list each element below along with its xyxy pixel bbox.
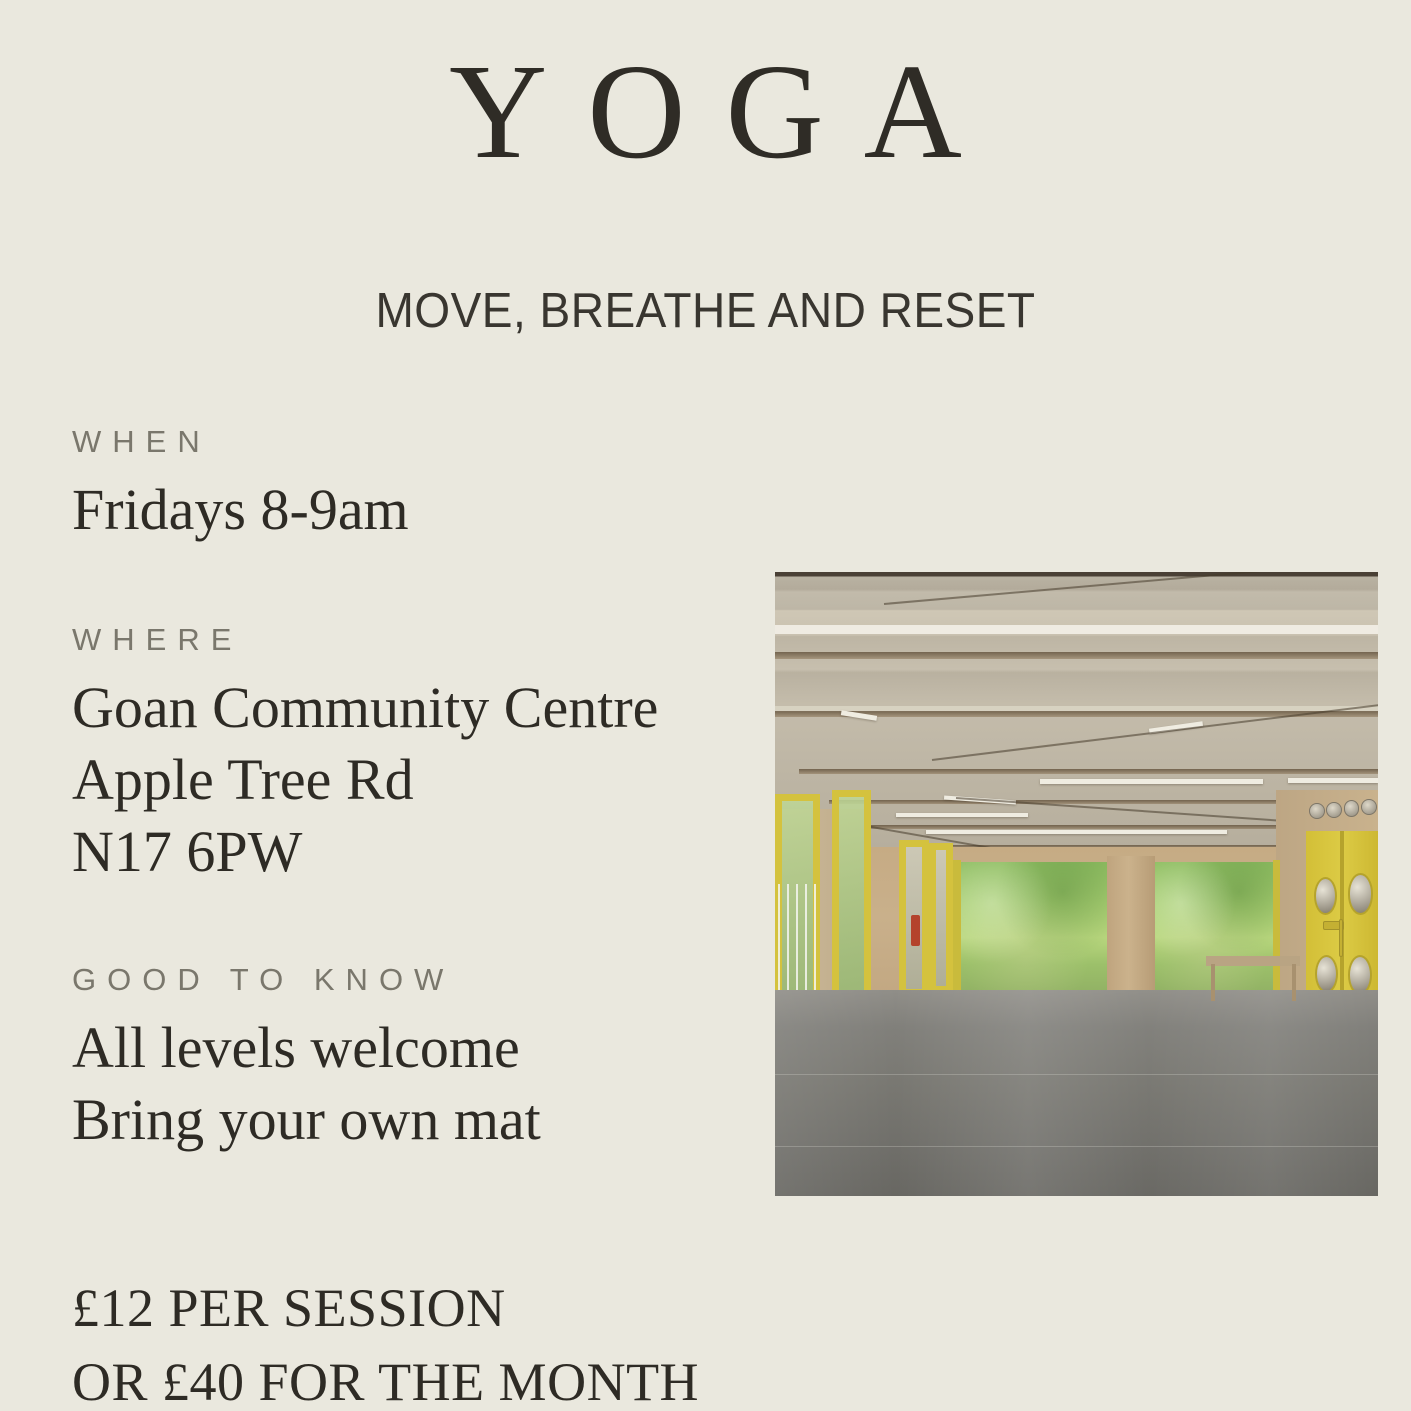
bifold-door-panel [832,790,871,1002]
light-fixture [896,813,1029,817]
where-line-2: Apple Tree Rd [72,744,658,816]
section-good-to-know: GOOD TO KNOW All levels welcome Bring yo… [72,962,541,1156]
window-mullion [1273,860,1280,1000]
section-where: WHERE Goan Community Centre Apple Tree R… [72,622,658,888]
ceiling-beam [799,769,1378,774]
section-label-good-to-know: GOOD TO KNOW [72,962,541,998]
floor-seam [775,1074,1378,1075]
section-body-good-to-know: All levels welcome Bring your own mat [72,1012,541,1156]
light-fixture [1288,778,1378,783]
section-when: WHEN Fridays 8-9am [72,424,409,546]
ceiling-beam [775,652,1378,659]
floor-seam [775,1146,1378,1147]
price-per-session: £12 PER SESSION [72,1272,699,1346]
venue-photo [775,572,1378,1196]
door-porthole-icon [1348,955,1372,995]
bench-table [1206,956,1299,966]
fire-extinguisher [911,915,921,946]
wall-vent-icon [1309,803,1325,819]
page-subtitle: MOVE, BREATHE AND RESET [42,283,1368,339]
good-line-1: All levels welcome [72,1012,541,1084]
wall-vent-icon [1344,800,1360,816]
door-porthole-icon [1315,955,1338,993]
when-line-1: Fridays 8-9am [72,474,409,546]
venue-photo-scene [775,572,1378,1196]
floor [775,990,1378,1196]
door-porthole-icon [1314,877,1337,915]
ceiling-light-strip [775,625,1378,634]
pricing-block: £12 PER SESSION OR £40 FOR THE MONTH B [72,1272,699,1411]
bench-leg [1211,964,1215,1001]
window-garden-right [1155,862,1276,999]
where-line-1: Goan Community Centre [72,672,658,744]
where-line-3: N17 6PW [72,816,658,888]
price-per-month: OR £40 FOR THE MONTH [72,1346,699,1411]
balcony-railing [778,884,820,990]
door-push-bar [1339,919,1343,957]
yoga-poster: YOGA MOVE, BREATHE AND RESET WHEN Friday… [0,0,1411,1411]
light-fixture [926,830,1228,834]
section-label-where: WHERE [72,622,658,658]
window-garden-left [959,862,1107,999]
section-body-where: Goan Community Centre Apple Tree Rd N17 … [72,672,658,888]
section-body-when: Fridays 8-9am [72,474,409,546]
bifold-door-panel [929,843,953,993]
wall-vent-icon [1326,802,1342,818]
timber-column [1107,856,1155,1003]
page-title: YOGA [0,44,1411,180]
section-label-when: WHEN [72,424,409,460]
light-fixture [1040,779,1263,784]
good-line-2: Bring your own mat [72,1084,541,1156]
door-porthole-icon [1348,873,1374,915]
bench-leg [1292,964,1296,1001]
window-mullion [953,860,960,1000]
